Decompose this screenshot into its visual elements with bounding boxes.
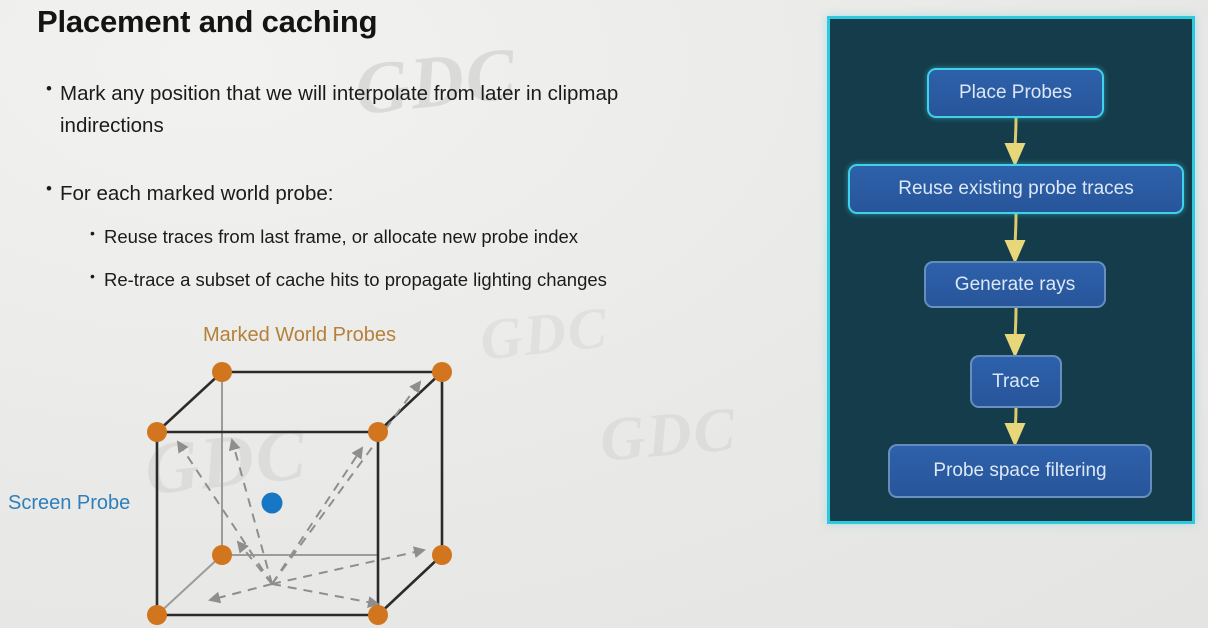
bullet-item: • Re-trace a subset of cache hits to pro… — [90, 266, 607, 295]
slide-canvas: GDC GDC GDC GDC Placement and caching • … — [0, 0, 1208, 628]
cube-diagram — [0, 312, 500, 628]
watermark-text: GDC — [597, 394, 740, 477]
flow-step-label: Probe space filtering — [933, 460, 1106, 482]
flow-step-place-probes[interactable]: Place Probes — [927, 68, 1104, 118]
bullet-text: Mark any position that we will interpola… — [60, 78, 700, 142]
bullet-item: • Mark any position that we will interpo… — [46, 78, 746, 142]
flow-step-label: Reuse existing probe traces — [898, 178, 1134, 200]
cube-svg — [0, 312, 500, 628]
flow-step-label: Trace — [992, 371, 1040, 393]
bullet-marker-icon: • — [46, 78, 60, 97]
cube-edges — [157, 372, 442, 615]
bullet-item: • For each marked world probe: — [46, 178, 333, 210]
flow-step-reuse-existing-probe-traces[interactable]: Reuse existing probe traces — [848, 164, 1184, 214]
screen-probe-dot — [262, 493, 283, 514]
flowchart-panel: Place Probes Reuse existing probe traces… — [827, 16, 1195, 524]
flow-step-trace[interactable]: Trace — [970, 355, 1062, 408]
bullet-text: For each marked world probe: — [60, 178, 333, 210]
flow-step-generate-rays[interactable]: Generate rays — [924, 261, 1106, 308]
cube-rays — [178, 382, 424, 604]
flow-step-label: Place Probes — [959, 82, 1072, 104]
flow-step-label: Generate rays — [955, 274, 1075, 296]
bullet-text: Reuse traces from last frame, or allocat… — [104, 223, 578, 252]
flow-step-probe-space-filtering[interactable]: Probe space filtering — [888, 444, 1152, 498]
bullet-marker-icon: • — [90, 223, 104, 240]
bullet-marker-icon: • — [90, 266, 104, 283]
bullet-text: Re-trace a subset of cache hits to propa… — [104, 266, 607, 295]
bullet-marker-icon: • — [46, 178, 60, 197]
slide-title: Placement and caching — [37, 4, 377, 40]
bullet-item: • Reuse traces from last frame, or alloc… — [90, 223, 578, 252]
